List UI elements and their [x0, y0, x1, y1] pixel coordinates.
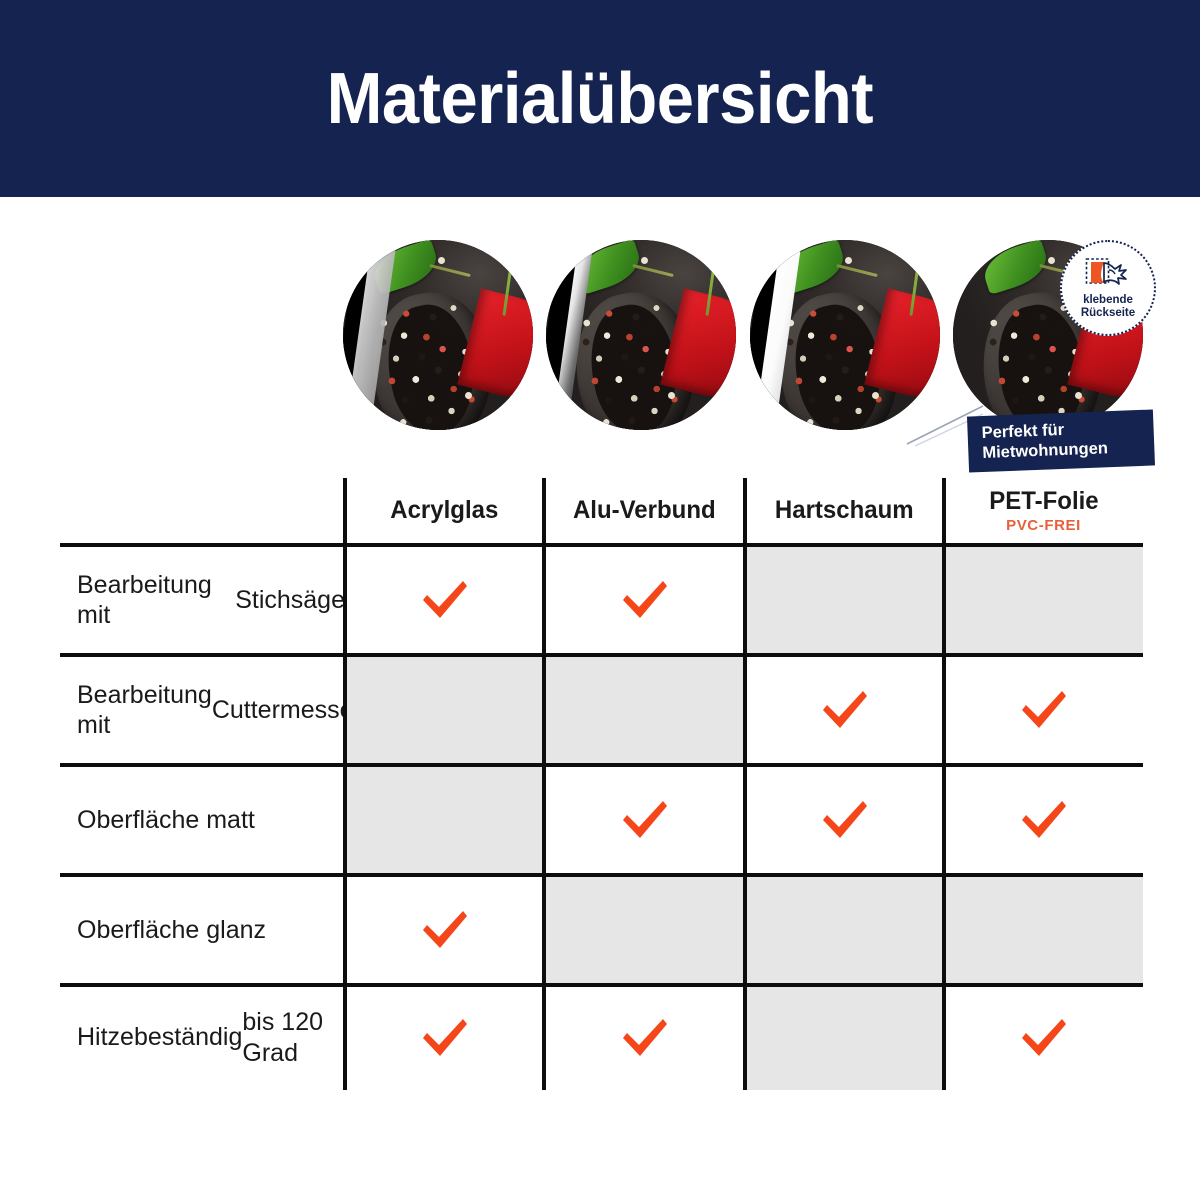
orange-checkmark-icon — [619, 1016, 671, 1060]
column-header-hartschaum: Hartschaum — [745, 478, 944, 545]
feature-cell-unsupported — [745, 545, 944, 655]
feature-cell-unsupported — [345, 655, 544, 765]
feature-cell-supported — [944, 655, 1143, 765]
column-header-acrylglas: Acrylglas — [345, 478, 544, 545]
feature-cell-supported — [544, 765, 745, 875]
feature-cell-unsupported — [944, 875, 1143, 985]
column-header-pet-folie: PET-FoliePVC-FREI — [944, 478, 1143, 545]
feature-cell-unsupported — [544, 875, 745, 985]
table-column-divider — [942, 478, 946, 1090]
orange-checkmark-icon — [619, 798, 671, 842]
table-column-divider — [743, 478, 747, 1090]
orange-checkmark-icon — [419, 908, 471, 952]
feature-cell-unsupported — [745, 875, 944, 985]
column-header-alu-verbund: Alu-Verbund — [544, 478, 745, 545]
feature-cell-unsupported — [944, 545, 1143, 655]
product-thumbnail-acrylglas[interactable] — [343, 240, 533, 430]
product-thumbnail-alu-verbund[interactable] — [546, 240, 736, 430]
peel-sticker-icon — [1085, 257, 1131, 292]
material-comparison-table: AcrylglasAlu-VerbundHartschaumPET-FolieP… — [60, 478, 1143, 1090]
feature-cell-supported — [345, 985, 544, 1090]
table-column-divider — [343, 478, 347, 1090]
table-row-divider — [60, 543, 1143, 547]
orange-checkmark-icon — [619, 578, 671, 622]
feature-cell-supported — [345, 875, 544, 985]
page-title: Materialübersicht — [327, 63, 874, 135]
row-label: Oberfläche matt — [60, 765, 345, 875]
feature-cell-supported — [745, 655, 944, 765]
orange-checkmark-icon — [1018, 1016, 1070, 1060]
feature-cell-supported — [544, 545, 745, 655]
feature-cell-unsupported — [544, 655, 745, 765]
column-header-title: PET-Folie — [989, 488, 1098, 514]
feature-cell-unsupported — [345, 765, 544, 875]
row-label: Bearbeitung mitStichsäge — [60, 545, 345, 655]
product-thumbnail-strip — [343, 240, 1153, 440]
table-corner-cell — [60, 478, 345, 545]
column-header-title: Acrylglas — [390, 497, 498, 523]
feature-cell-supported — [944, 765, 1143, 875]
orange-checkmark-icon — [819, 688, 871, 732]
feature-cell-supported — [544, 985, 745, 1090]
column-header-title: Hartschaum — [775, 497, 914, 523]
feature-cell-supported — [944, 985, 1143, 1090]
page-header: Materialübersicht — [0, 0, 1200, 197]
sticky-badge-line2: Rückseite — [1081, 307, 1135, 320]
column-header-subtitle: PVC-FREI — [1006, 518, 1081, 533]
table-column-divider — [542, 478, 546, 1090]
column-header-title: Alu-Verbund — [573, 497, 716, 523]
feature-cell-unsupported — [745, 985, 944, 1090]
row-label: Oberfläche glanz — [60, 875, 345, 985]
table-row-divider — [60, 653, 1143, 657]
orange-checkmark-icon — [819, 798, 871, 842]
table-row-divider — [60, 983, 1143, 987]
orange-checkmark-icon — [1018, 688, 1070, 732]
feature-cell-supported — [745, 765, 944, 875]
table-row-divider — [60, 873, 1143, 877]
row-label: Bearbeitung mitCuttermesser — [60, 655, 345, 765]
row-label: Hitzebeständigbis 120 Grad — [60, 985, 345, 1090]
sticky-badge-line1: klebende — [1083, 294, 1133, 307]
orange-checkmark-icon — [419, 578, 471, 622]
orange-checkmark-icon — [1018, 798, 1070, 842]
feature-cell-supported — [345, 545, 544, 655]
rental-banner: Perfekt für Mietwohnungen — [967, 409, 1155, 472]
table-row-divider — [60, 763, 1143, 767]
sticky-back-badge: klebende Rückseite — [1060, 240, 1156, 336]
orange-checkmark-icon — [419, 1016, 471, 1060]
